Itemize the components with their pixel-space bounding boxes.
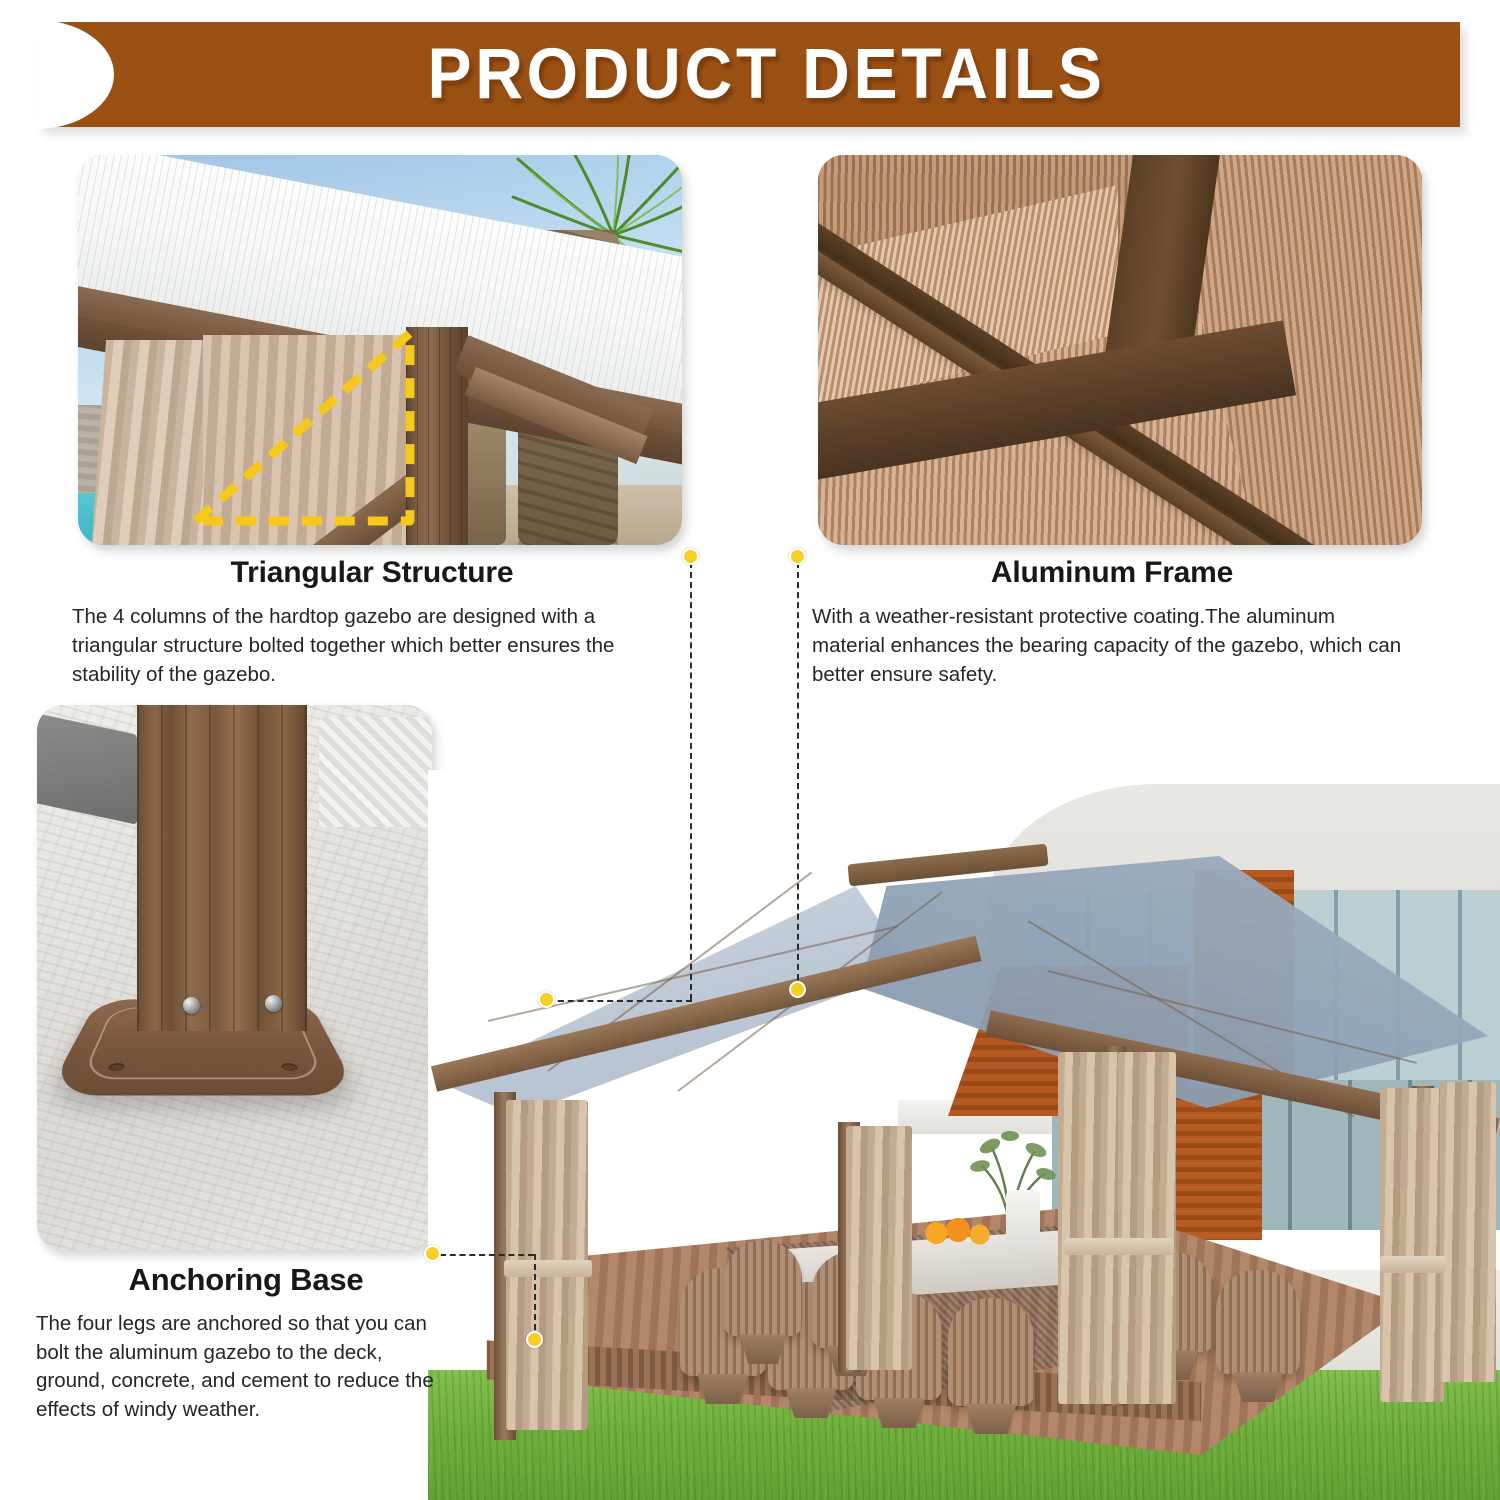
table-vase [1006, 1190, 1040, 1252]
fruit-bowl [922, 1218, 994, 1248]
feature-image-aluminum-frame [818, 155, 1422, 545]
feature-image-triangular-structure [78, 155, 682, 545]
dining-chair [948, 1298, 1034, 1406]
curtain-tieback-center [1064, 1238, 1174, 1255]
gazebo-leg-column [137, 705, 307, 1031]
header-banner: PRODUCT DETAILS [0, 0, 1500, 150]
callout-dot-aluminum-target [789, 981, 806, 998]
gazebo-curtain-center-left [1058, 1052, 1120, 1404]
callout-line-anchor-vertical [534, 1254, 536, 1340]
anchor-bolt-hole-left [107, 1063, 125, 1071]
callout-line-aluminum [797, 562, 799, 990]
product-details-page: PRODUCT DETAILS [0, 0, 1500, 1500]
gazebo-curtain-right [1380, 1088, 1444, 1402]
callout-dot-aluminum-top [789, 548, 806, 565]
banner-bar: PRODUCT DETAILS [36, 22, 1460, 127]
callout-line-triangular-horizontal [548, 1000, 692, 1002]
background-patterned-stool [319, 717, 432, 827]
dining-chair [724, 1240, 802, 1336]
triangle-highlight-icon [188, 325, 416, 530]
curtain-tieback-left [504, 1260, 592, 1277]
feature-title-anchoring-base: Anchoring Base [36, 1262, 456, 1298]
curtain-tieback-right [1380, 1256, 1446, 1273]
feature-title-aluminum-frame: Aluminum Frame [812, 556, 1412, 590]
callout-dot-anchor-target [526, 1331, 543, 1348]
feature-text-anchoring-base: Anchoring Base The four legs are anchore… [36, 1262, 456, 1425]
callout-line-anchor-horizontal [440, 1254, 534, 1256]
feature-image-anchoring-base [37, 705, 432, 1250]
callout-line-triangular [690, 562, 692, 1000]
feature-body-aluminum-frame: With a weather-resistant protective coat… [812, 602, 1412, 689]
feature-body-anchoring-base: The four legs are anchored so that you c… [36, 1310, 456, 1425]
page-title: PRODUCT DETAILS [86, 22, 1410, 127]
callout-dot-triangular-top [682, 548, 699, 565]
anchor-bolt-right [265, 995, 282, 1012]
hero-gazebo-scene [428, 770, 1500, 1500]
dining-chair [1216, 1270, 1300, 1374]
house-wood-panel-lower [1170, 1088, 1262, 1240]
callout-dot-anchor-source [424, 1245, 441, 1262]
feature-text-aluminum-frame: Aluminum Frame With a weather-resistant … [812, 556, 1412, 689]
hero-scene-layers [428, 770, 1500, 1500]
gazebo-curtain-far-right [1440, 1082, 1496, 1382]
anchor-bolt-hole-right [281, 1063, 299, 1071]
callout-dot-triangular-target [538, 991, 555, 1008]
anchor-bolt-left [183, 997, 200, 1014]
feature-body-triangular-structure: The 4 columns of the hardtop gazebo are … [72, 602, 672, 689]
gazebo-curtain-back-left [846, 1126, 912, 1370]
feature-text-triangular-structure: Triangular Structure The 4 columns of th… [72, 556, 672, 689]
feature-title-triangular-structure: Triangular Structure [72, 556, 672, 590]
gazebo-curtain-center-right [1118, 1052, 1176, 1404]
